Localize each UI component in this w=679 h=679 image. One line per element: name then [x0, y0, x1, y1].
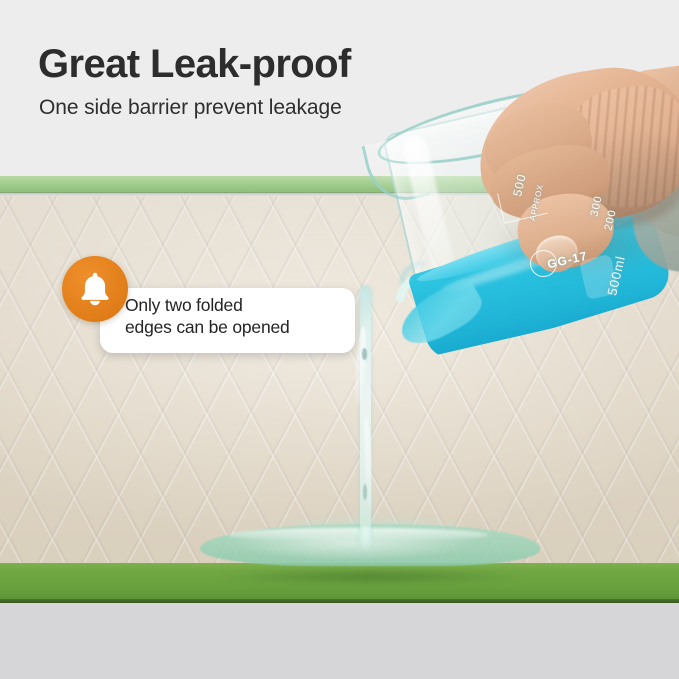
hand — [386, 86, 679, 266]
callout-badge — [62, 256, 128, 322]
feature-callout: Only two folded edges can be opened — [62, 256, 362, 356]
mat-edge-wet-spot — [215, 568, 525, 585]
page-subtitle: One side barrier prevent leakage — [39, 96, 342, 120]
callout-text: Only two folded edges can be opened — [125, 294, 355, 338]
water-stream-refraction-lower — [363, 484, 367, 500]
water-stream-impact — [356, 526, 375, 552]
floor-background — [0, 603, 679, 679]
page-title: Great Leak-proof — [38, 42, 351, 87]
water-stream-refraction-upper — [362, 348, 367, 360]
promo-image: Great Leak-proof One side barrier preven… — [0, 0, 679, 679]
bell-icon — [79, 271, 111, 307]
